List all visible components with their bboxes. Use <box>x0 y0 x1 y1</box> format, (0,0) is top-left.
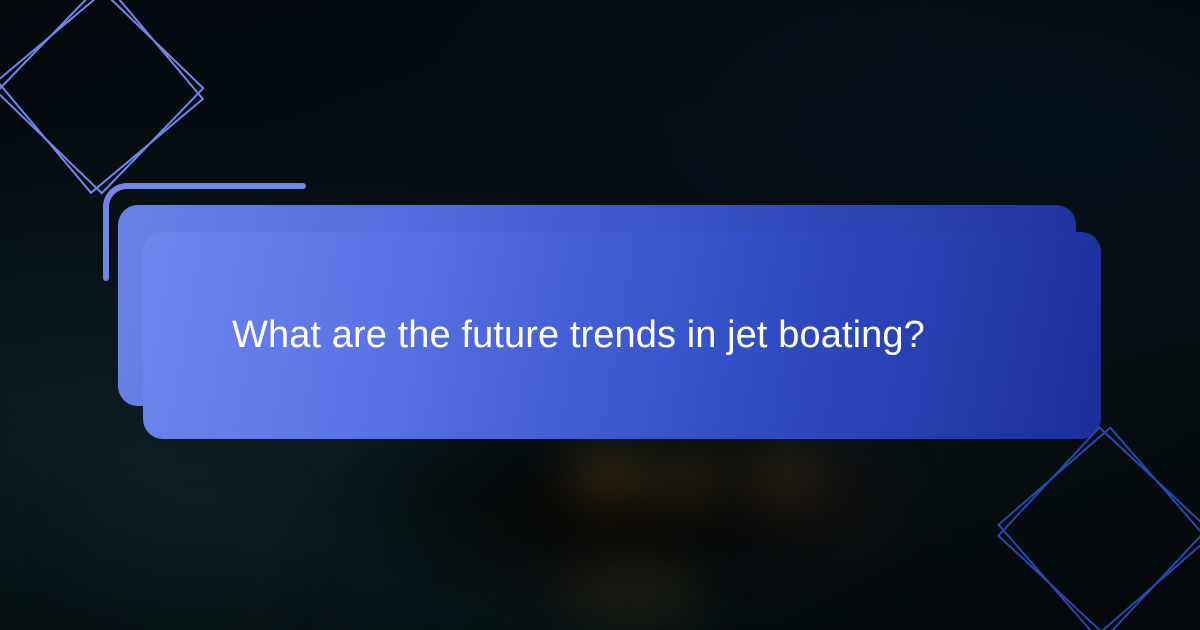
page-title: What are the future trends in jet boatin… <box>143 312 965 358</box>
question-card: What are the future trends in jet boatin… <box>143 232 1101 439</box>
decor-squares-bottom-right <box>1000 425 1200 630</box>
rotated-square-icon <box>997 426 1200 630</box>
question-card-banner: What are the future trends in jet boatin… <box>0 0 1200 630</box>
decor-squares-top-left <box>0 0 208 196</box>
rotated-square-icon <box>0 0 204 194</box>
